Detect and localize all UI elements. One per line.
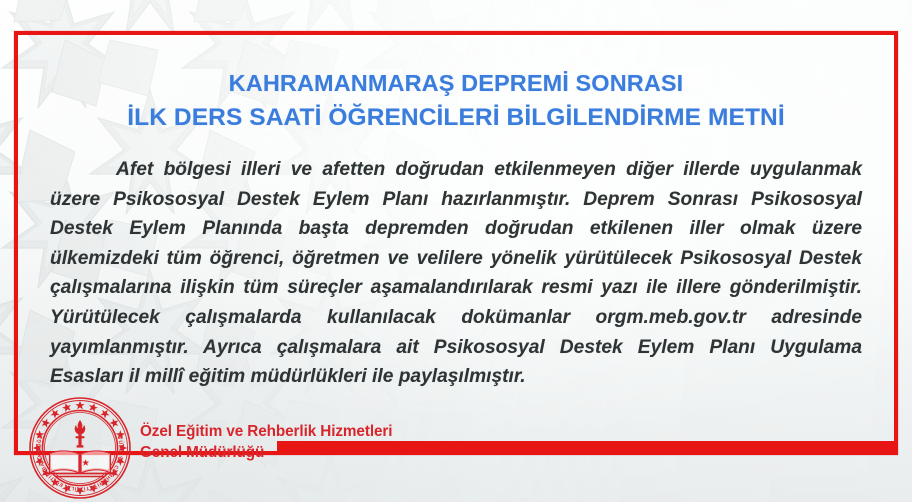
meb-seal-logo: TÜRKİYE CUMHURİYETİ MİLLÎ EĞİTİM BAKANLI… — [28, 396, 132, 500]
slide-canvas: KAHRAMANMARAŞ DEPREMİ SONRASI İLK DERS S… — [0, 0, 912, 502]
footer-red-rule — [277, 441, 898, 452]
title-line-2: İLK DERS SAATİ ÖĞRENCİLERİ BİLGİLENDİRME… — [14, 102, 898, 134]
body-paragraph: Afet bölgesi illeri ve afetten doğrudan … — [50, 155, 862, 392]
page-title: KAHRAMANMARAŞ DEPREMİ SONRASI İLK DERS S… — [14, 68, 898, 133]
title-line-1: KAHRAMANMARAŞ DEPREMİ SONRASI — [14, 68, 898, 99]
footer-organization-line-1: Özel Eğitim ve Rehberlik Hizmetleri — [140, 421, 392, 442]
